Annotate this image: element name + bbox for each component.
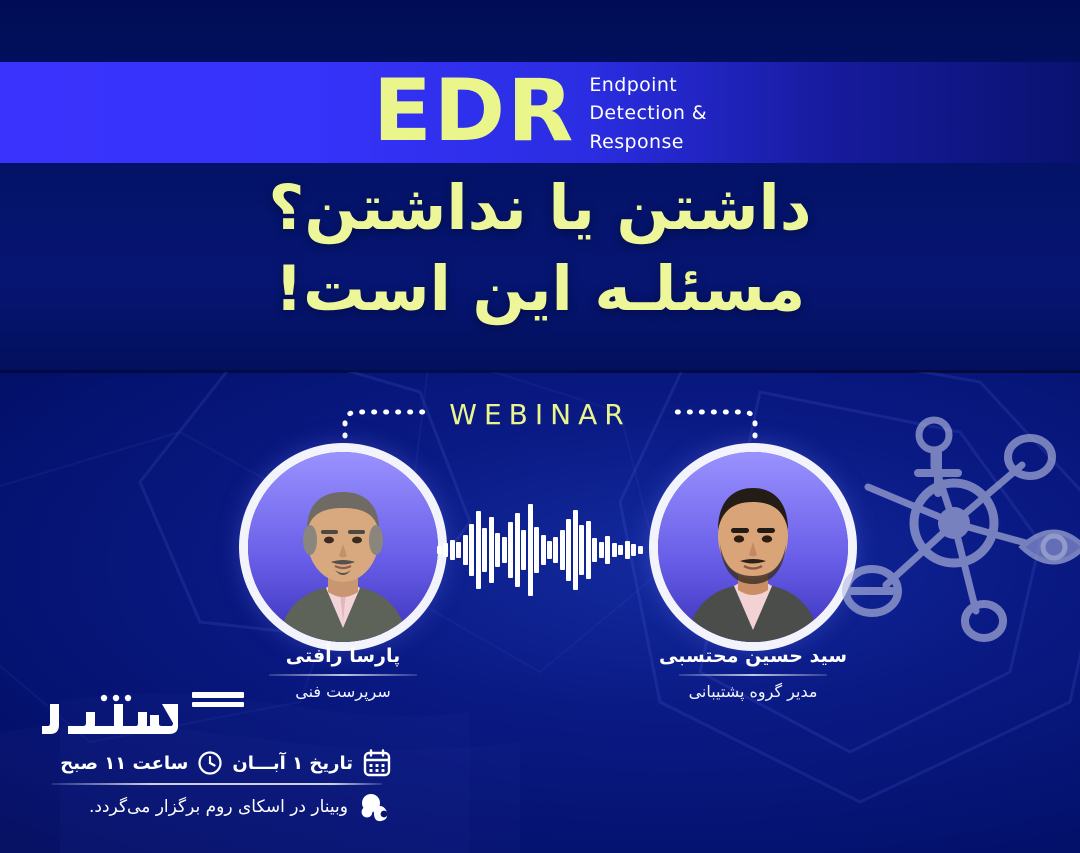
waveform-bar-6	[476, 511, 481, 589]
waveform-bar-12	[515, 513, 520, 587]
waveform-bar-13	[521, 530, 526, 570]
event-date-text: تاریخ ۱ آبـــان	[232, 753, 353, 774]
waveform-bar-28	[618, 545, 623, 555]
event-time-text: ساعت ۱۱ صبح	[60, 753, 188, 774]
event-datetime-row: تاریخ ۱ آبـــان ساعت ۱۱ صبح	[42, 748, 392, 778]
waveform-bar-3	[456, 542, 461, 558]
waveform-bar-10	[502, 537, 507, 563]
waveform-bar-18	[553, 537, 558, 563]
speaker-portrait-left	[248, 452, 438, 642]
platform-note-row: وبینار در اسکای روم برگزار می‌گردد.	[42, 792, 392, 822]
waveform-bar-19	[560, 530, 565, 570]
waveform-bar-7	[482, 528, 487, 572]
waveform-bar-8	[489, 517, 494, 583]
waveform-bar-4	[463, 535, 468, 565]
waveform-bar-27	[612, 543, 617, 557]
edr-subtitle-line-2: Detection &	[589, 99, 707, 127]
calendar-icon	[362, 748, 392, 778]
company-logo-icon	[42, 686, 254, 744]
speaker-name-left: پارسا رأفتی	[218, 645, 468, 667]
waveform-bar-15	[534, 527, 539, 573]
headline: داشتن یا نداشتن؟ مسئلـه این است!	[0, 168, 1080, 329]
waveform-bar-30	[631, 544, 636, 556]
headline-line-1: داشتن یا نداشتن؟	[0, 168, 1080, 249]
waveform-bar-5	[469, 524, 474, 576]
waveform-bar-0	[437, 546, 442, 554]
waveform-bar-11	[508, 522, 513, 578]
clock-icon	[197, 750, 223, 776]
edr-subtitle-line-1: Endpoint	[589, 71, 707, 99]
ban-icon	[846, 569, 898, 613]
waveform-bar-26	[605, 536, 610, 564]
edr-subtitle-line-3: Response	[589, 128, 707, 156]
network-nodes-icon	[826, 395, 1080, 645]
waveform-bar-23	[586, 521, 591, 579]
speaker-info-right: سید حسین محتسبی مدیر گروه پشتیبانی	[628, 645, 878, 701]
speaker-info-left: پارسا رأفتی سرپرست فنی	[218, 645, 468, 701]
company-logo	[42, 686, 254, 744]
waveform-bar-9	[495, 533, 500, 567]
speaker-rule-left	[269, 674, 417, 676]
waveform-bar-20	[566, 519, 571, 581]
speaker-avatar-right	[658, 452, 848, 642]
skyroom-logo-icon	[358, 792, 392, 822]
waveform-bar-1	[443, 543, 448, 557]
speaker-role-right: مدیر گروه پشتیبانی	[628, 682, 878, 701]
waveform-bar-22	[579, 525, 584, 575]
speaker-portrait-right	[658, 452, 848, 642]
waveform-bar-25	[599, 542, 604, 558]
speaker-rule-right	[679, 674, 827, 676]
edr-subtitle: Endpoint Detection & Response	[589, 71, 707, 155]
waveform-bar-21	[573, 510, 578, 590]
waveform-bar-16	[541, 535, 546, 565]
speaker-role-left: سرپرست فنی	[218, 682, 468, 701]
waveform-bar-29	[625, 541, 630, 559]
footer-rule	[52, 783, 382, 785]
webinar-poster: EDR Endpoint Detection & Response داشتن …	[0, 0, 1080, 853]
speaker-avatar-left	[248, 452, 438, 642]
eye-icon	[1022, 532, 1080, 562]
headline-line-2: مسئلـه این است!	[0, 249, 1080, 330]
waveform-bar-17	[547, 541, 552, 559]
platform-note-text: وبینار در اسکای روم برگزار می‌گردد.	[89, 797, 348, 817]
audio-waveform	[437, 500, 643, 600]
waveform-bar-2	[450, 540, 455, 560]
waveform-bar-31	[638, 546, 643, 554]
waveform-bar-14	[528, 504, 533, 596]
waveform-bar-24	[592, 538, 597, 562]
speaker-name-right: سید حسین محتسبی	[628, 645, 878, 667]
edr-header: EDR Endpoint Detection & Response	[0, 62, 1080, 163]
edr-wordmark: EDR	[373, 68, 575, 154]
